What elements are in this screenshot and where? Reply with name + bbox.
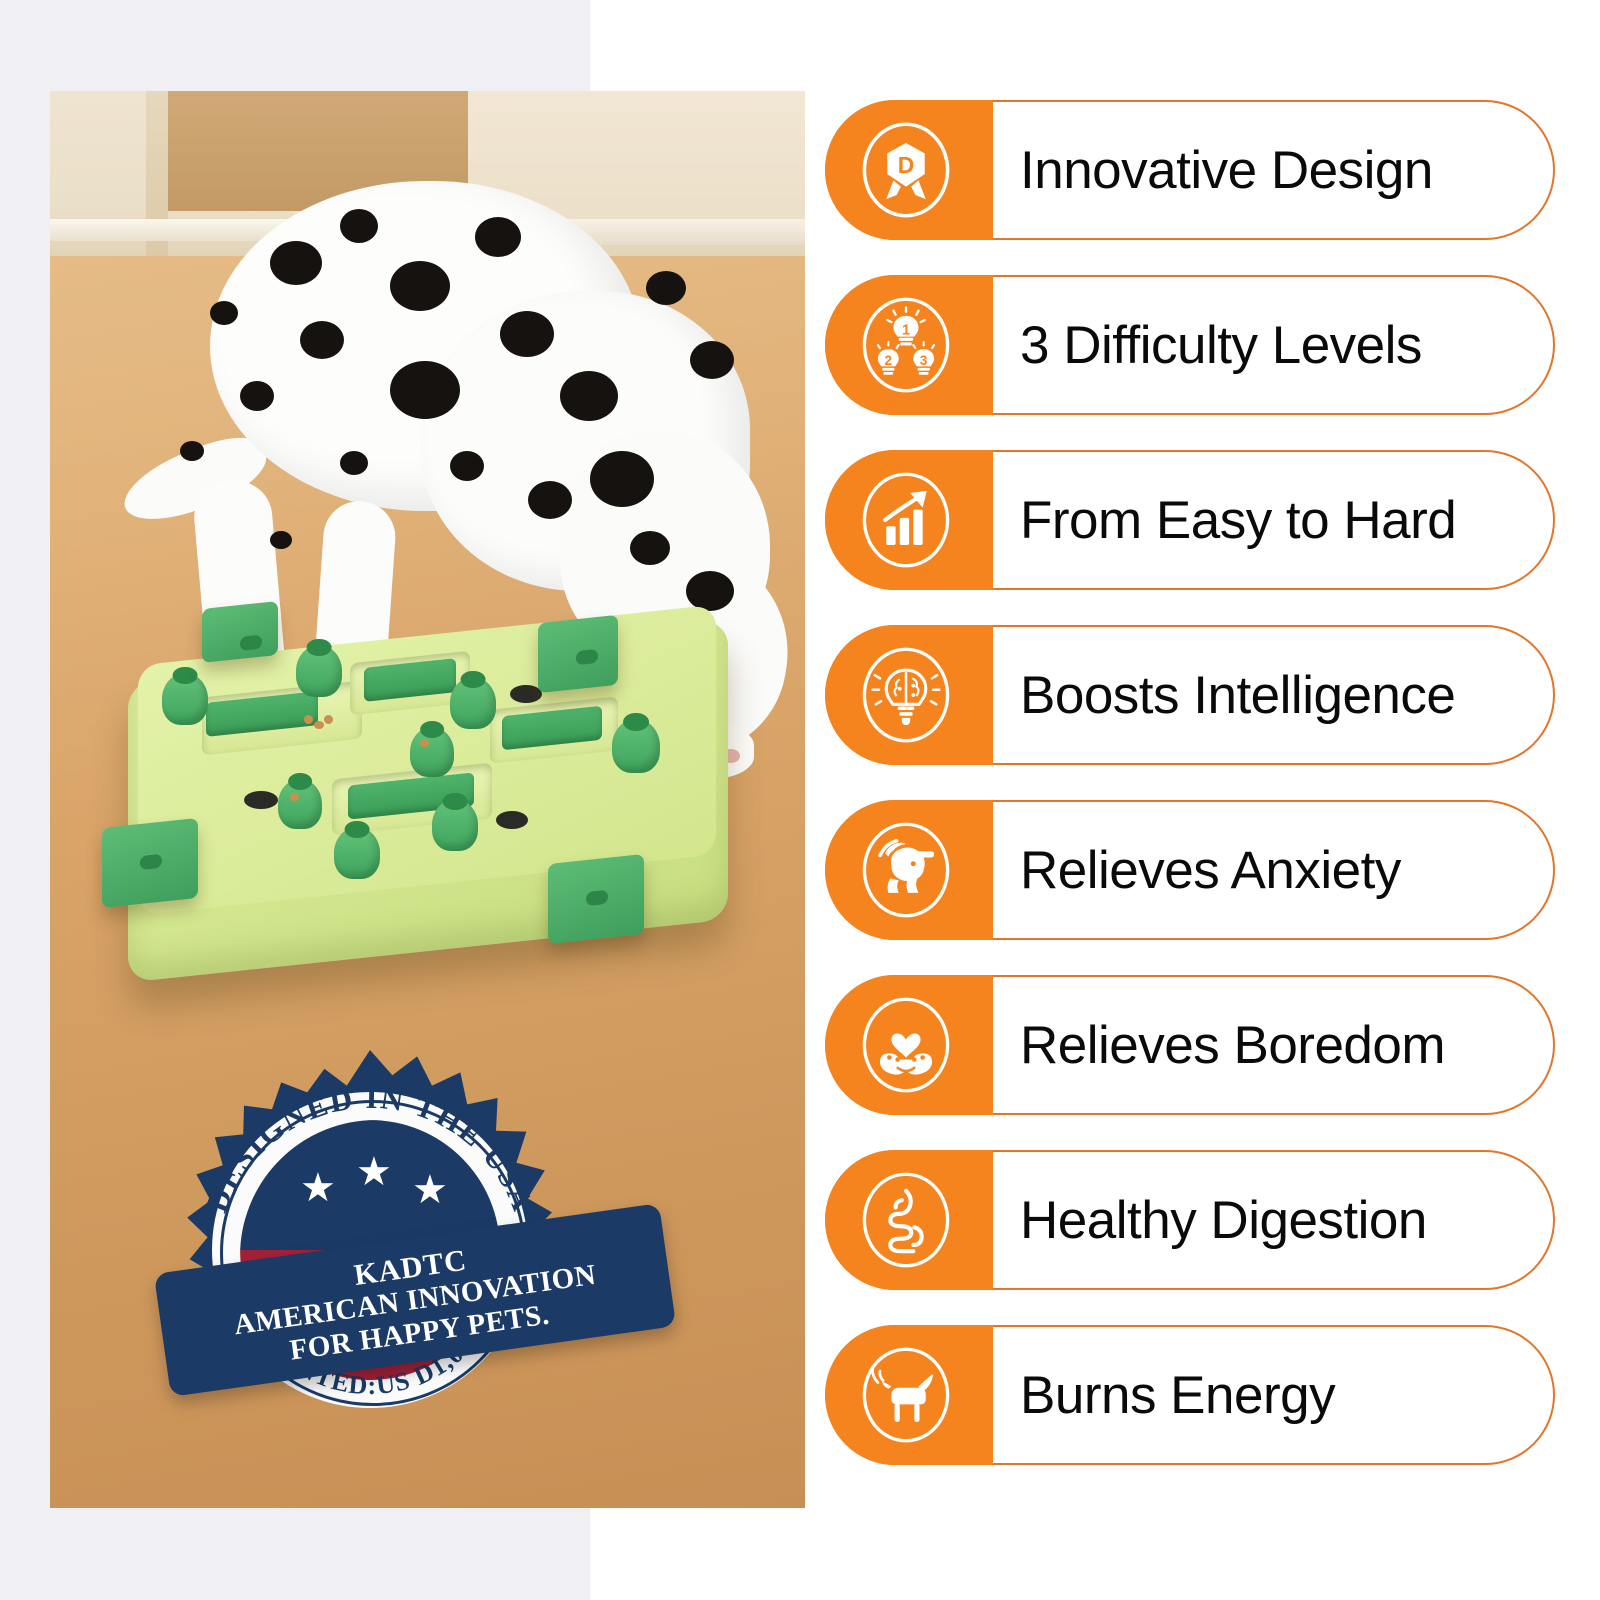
bar-chart-growth-icon [849, 463, 963, 577]
feature-label: Relieves Boredom [1020, 975, 1445, 1115]
toy-drawer [538, 615, 618, 693]
feature-item-healthy-digestion[interactable]: Healthy Digestion [825, 1150, 1555, 1290]
feature-item-easy-to-hard[interactable]: From Easy to Hard [825, 450, 1555, 590]
three-bulbs-icon: 1 2 [849, 288, 963, 402]
feature-label: Innovative Design [1020, 100, 1433, 240]
intestine-icon [849, 1163, 963, 1277]
product-infographic: ★ ★ ★ ★ ★ ★ DESIGNED IN THE USA U.S. PAT… [0, 0, 1600, 1600]
feature-item-burns-energy[interactable]: Burns Energy [825, 1325, 1555, 1465]
feature-label: 3 Difficulty Levels [1020, 275, 1422, 415]
running-dog-icon [849, 1338, 963, 1452]
svg-text:2: 2 [885, 353, 893, 368]
feature-label: From Easy to Hard [1020, 450, 1456, 590]
feature-list: D Innovative Design [825, 100, 1560, 1500]
svg-text:1: 1 [902, 323, 910, 339]
designed-in-usa-seal: ★ ★ ★ ★ ★ ★ DESIGNED IN THE USA U.S. PAT… [160, 1040, 580, 1510]
toy-drawer [102, 818, 198, 908]
toy-drawer [548, 854, 644, 944]
dog-puzzle-toy [110, 611, 750, 971]
dog-muzzle-heart-icon [849, 988, 963, 1102]
award-badge-icon: D [849, 113, 963, 227]
feature-label: Burns Energy [1020, 1325, 1335, 1465]
svg-text:D: D [898, 152, 915, 178]
feature-item-boosts-intelligence[interactable]: Boosts Intelligence [825, 625, 1555, 765]
hand-petting-dog-icon [849, 813, 963, 927]
feature-item-relieves-boredom[interactable]: Relieves Boredom [825, 975, 1555, 1115]
feature-item-relieves-anxiety[interactable]: Relieves Anxiety [825, 800, 1555, 940]
feature-label: Relieves Anxiety [1020, 800, 1401, 940]
toy-drawer [202, 601, 278, 663]
feature-item-difficulty-levels[interactable]: 1 2 [825, 275, 1555, 415]
feature-label: Boosts Intelligence [1020, 625, 1455, 765]
svg-text:3: 3 [920, 353, 928, 368]
brain-bulb-icon [849, 638, 963, 752]
feature-label: Healthy Digestion [1020, 1150, 1427, 1290]
feature-item-innovative-design[interactable]: D Innovative Design [825, 100, 1555, 240]
